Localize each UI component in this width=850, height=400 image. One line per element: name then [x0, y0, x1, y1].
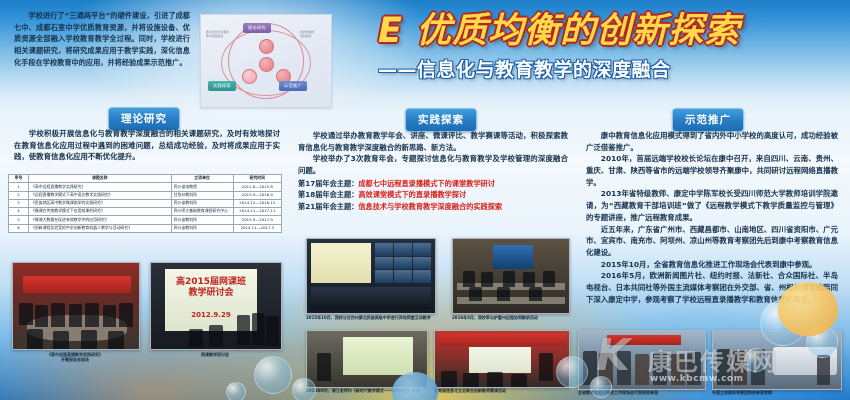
- cell-org: 四川省电教馆: [171, 183, 233, 191]
- conference-label: 第17届年会主题：: [298, 178, 358, 190]
- foreign-media-caption: 外国主流媒体考察团到校参观考察: [712, 390, 840, 395]
- photo-banner: [23, 276, 131, 293]
- decor-balloon: [778, 282, 838, 336]
- column-theory: 学校积极开展信息化与教育教学深度融合的相关课题研究，及时有效地探讨在教育信息化应…: [14, 128, 280, 163]
- cell-name: 《微课在传统教学模式下应用效果的研究》: [28, 208, 171, 216]
- practice-body-2: 学校举办了3次教育年会，专题探讨信息化与教育教学及学校管理的深度融合问题。: [298, 153, 568, 176]
- headline-sub: ——信息化与教育教学的深度融合: [378, 55, 840, 82]
- cell-no: 6: [9, 224, 29, 232]
- conference-theme: 信息技术与学校教育教学深度融合的实践探索: [358, 201, 502, 213]
- interactive-class-caption: 2015年10月，我校与甘孜州康北民族高级中学进行异地同堂互动教学: [306, 315, 434, 320]
- cell-name: 《高中远程直播教学实践研究》: [28, 183, 171, 191]
- cell-org: 甘孜州教科所: [171, 191, 233, 199]
- badge-practice[interactable]: 实践探索: [405, 108, 477, 132]
- conference-item: 第21届年会主题： 信息技术与学校教育教学深度融合的实践探索: [298, 201, 568, 213]
- cell-name: 《远程直播教学模式下高中语文教学实践研究》: [28, 191, 171, 199]
- demo-paragraph: 2015年10月，全省教育信息化推进工作现场会代表到康中参观。: [586, 259, 838, 271]
- table-body: 1 《高中远程直播教学实践研究》 四川省电教馆 2011.8—2015.8 2 …: [9, 183, 282, 233]
- decor-bubble: [292, 378, 316, 400]
- decor-bubble: [226, 382, 246, 400]
- conference-item: 第17届年会主题： 成都七中远程直录播模式下的课堂教学研讨: [298, 178, 568, 190]
- demo-paragraph: 2013年省特级教师、康定中学陈军校长受四川师范大学教师培训学院邀请，为“西藏教…: [586, 188, 838, 223]
- decor-bubble: [556, 356, 588, 388]
- cell-time: 2014.11—2017.3: [233, 224, 281, 232]
- conference-theme: 高效课堂模式下的直录播教学探讨: [358, 189, 466, 201]
- table-row: 4 《微课在传统教学模式下应用效果的研究》 四川师大基础教育课程研究中心 201…: [9, 208, 282, 216]
- seminar-photo: 高2015届网课班 教学研讨会 2012.9.29: [150, 262, 282, 350]
- table-row: 2 《远程直播教学模式下高中语文教学实践研究》 甘孜州教科所 2013.9—20…: [9, 191, 282, 199]
- meeting-photo-caption: 《高中远程直播教学实践研究》 开题报告会现场: [10, 352, 140, 363]
- th-name: 课题名称: [28, 175, 171, 183]
- demo-paragraph: 2010年，首届远端学校校长论坛在康中召开，来自四川、云南、贵州、重庆、甘肃、陕…: [586, 153, 838, 188]
- seminar-photo-caption: 网课教学研讨会: [150, 352, 280, 357]
- meeting-photo: [12, 262, 140, 350]
- seminar-screen-title: 高2015届网课班 教学研讨会: [171, 277, 251, 300]
- cell-time: 2014.11—2017.11: [233, 208, 281, 216]
- cell-org: 四川省教科所: [171, 224, 233, 232]
- table-row: 3 《民族地区高中数学微课助学的实践研究》 四川省教科所 2014.12—201…: [9, 199, 282, 207]
- decor-balloon: [392, 372, 438, 400]
- new-teacher-caption: 教育局信息化立足联合创新教师赛课活动: [434, 388, 568, 393]
- cell-org: 四川省教科所: [171, 216, 233, 224]
- cell-name: 《微课大数据在促进有效教学中的应用研究》: [28, 216, 171, 224]
- diagram-note-right: 优质均衡的创新探索: [300, 31, 314, 38]
- th-org: 立项单位: [171, 175, 233, 183]
- theory-body: 学校积极开展信息化与教育教学深度融合的相关课题研究，及时有效地探讨在教育信息化应…: [14, 128, 280, 163]
- cell-no: 1: [9, 183, 29, 191]
- cell-time: 2014.12—2016.12: [233, 199, 281, 207]
- remote-training-caption: 2016年3月，我校率与炉霍州远程协同教研活动: [452, 315, 568, 320]
- demo-paragraph: 近五年来，广东省广州市、西藏昌都市、山南地区、四川省资阳市、广元市、宜宾市、南充…: [586, 224, 838, 259]
- cell-no: 5: [9, 216, 29, 224]
- conference-theme: 成都七中远程直录播模式下的课堂教学研讨: [358, 178, 495, 190]
- cell-name: 《创新课程实验室的中学创新教育机器人教学与活动研究》: [28, 224, 171, 232]
- decor-bubble: [744, 348, 768, 372]
- table-header-row: 序号 课题名称 立项单位 研究时间: [9, 175, 282, 183]
- remote-training-photo: [452, 238, 570, 314]
- conference-item: 第18届年会主题： 高效课堂模式下的直录播教学探讨: [298, 189, 568, 201]
- cell-no: 4: [9, 208, 29, 216]
- diagram-label-demonstration: 示范推广: [279, 81, 307, 91]
- cell-org: 四川师大基础教育课程研究中心: [171, 208, 233, 216]
- conference-label: 第18届年会主题：: [298, 189, 358, 201]
- cell-no: 2: [9, 191, 29, 199]
- new-teacher-photo: [434, 330, 570, 388]
- diagram-node-3: [242, 69, 257, 84]
- cell-time: 2011.8—2015.8: [233, 183, 281, 191]
- badge-demonstration[interactable]: 示范推广: [672, 108, 744, 132]
- headline-block: E 优质均衡的创新探索 ——信息化与教育教学的深度融合: [378, 14, 840, 82]
- diagram-label-theory: 理论研究: [243, 23, 271, 33]
- column-practice: 学校通过举办教育教学年会、讲座、微课评比、教学赛课等活动，积极探索教育信息化与教…: [298, 130, 568, 213]
- cell-time: 2015.9—2017.9: [233, 216, 281, 224]
- concept-diagram: 理论研究 实践探索 示范推广 教育信息化与教育教学深度融合 优质均衡的创新探索: [200, 14, 332, 108]
- diagram-node-2: [259, 57, 274, 72]
- cell-org: 四川省教科所: [171, 199, 233, 207]
- cell-time: 2013.9—2016.9: [233, 191, 281, 199]
- th-no: 序号: [9, 175, 29, 183]
- diagram-note-left: 教育信息化与教育教学深度融合: [206, 31, 229, 38]
- poster-root: 学校进行了“三通两平台”的硬件建设，引进了成都七中、成都石室中学优质教育资源，并…: [0, 0, 850, 400]
- intro-text: 学校进行了“三通两平台”的硬件建设，引进了成都七中、成都石室中学优质教育资源，并…: [14, 10, 190, 68]
- interactive-class-photo: [306, 238, 436, 314]
- conference-label: 第21届年会主题：: [298, 201, 358, 213]
- practice-body-1: 学校通过举办教育教学年会、讲座、微课评比、教学赛课等活动，积极探索教育信息化与教…: [298, 130, 568, 153]
- diagram-node-1: [259, 39, 274, 54]
- table-row: 5 《微课大数据在促进有效教学中的应用研究》 四川省教科所 2015.9—201…: [9, 216, 282, 224]
- column-demonstration: 康中教育信息化应用模式得到了省内外中小学校的高度认可，成功经验被广泛借鉴推广。 …: [586, 130, 838, 305]
- cell-no: 3: [9, 199, 29, 207]
- diagram-label-practice: 实践探索: [208, 81, 236, 91]
- headline-main: E 优质均衡的创新探索: [378, 14, 840, 49]
- conference-list: 第17届年会主题： 成都七中远程直录播模式下的课堂教学研讨 第18届年会主题： …: [298, 178, 568, 213]
- demo-paragraph: 康中教育信息化应用模式得到了省内外中小学校的高度认可，成功经验被广泛借鉴推广。: [586, 130, 838, 153]
- decor-bubble: [590, 376, 612, 398]
- research-projects-table: 序号 课题名称 立项单位 研究时间 1 《高中远程直播教学实践研究》 四川省电教…: [8, 174, 282, 233]
- th-time: 研究时间: [233, 175, 281, 183]
- table-row: 1 《高中远程直播教学实践研究》 四川省电教馆 2011.8—2015.8: [9, 183, 282, 191]
- decor-bubble: [254, 356, 292, 394]
- cell-name: 《民族地区高中数学微课助学的实践研究》: [28, 199, 171, 207]
- table-row: 6 《创新课程实验室的中学创新教育机器人教学与活动研究》 四川省教科所 2014…: [9, 224, 282, 232]
- intro-paragraph: 学校进行了“三通两平台”的硬件建设，引进了成都七中、成都石室中学优质教育资源，并…: [14, 10, 190, 68]
